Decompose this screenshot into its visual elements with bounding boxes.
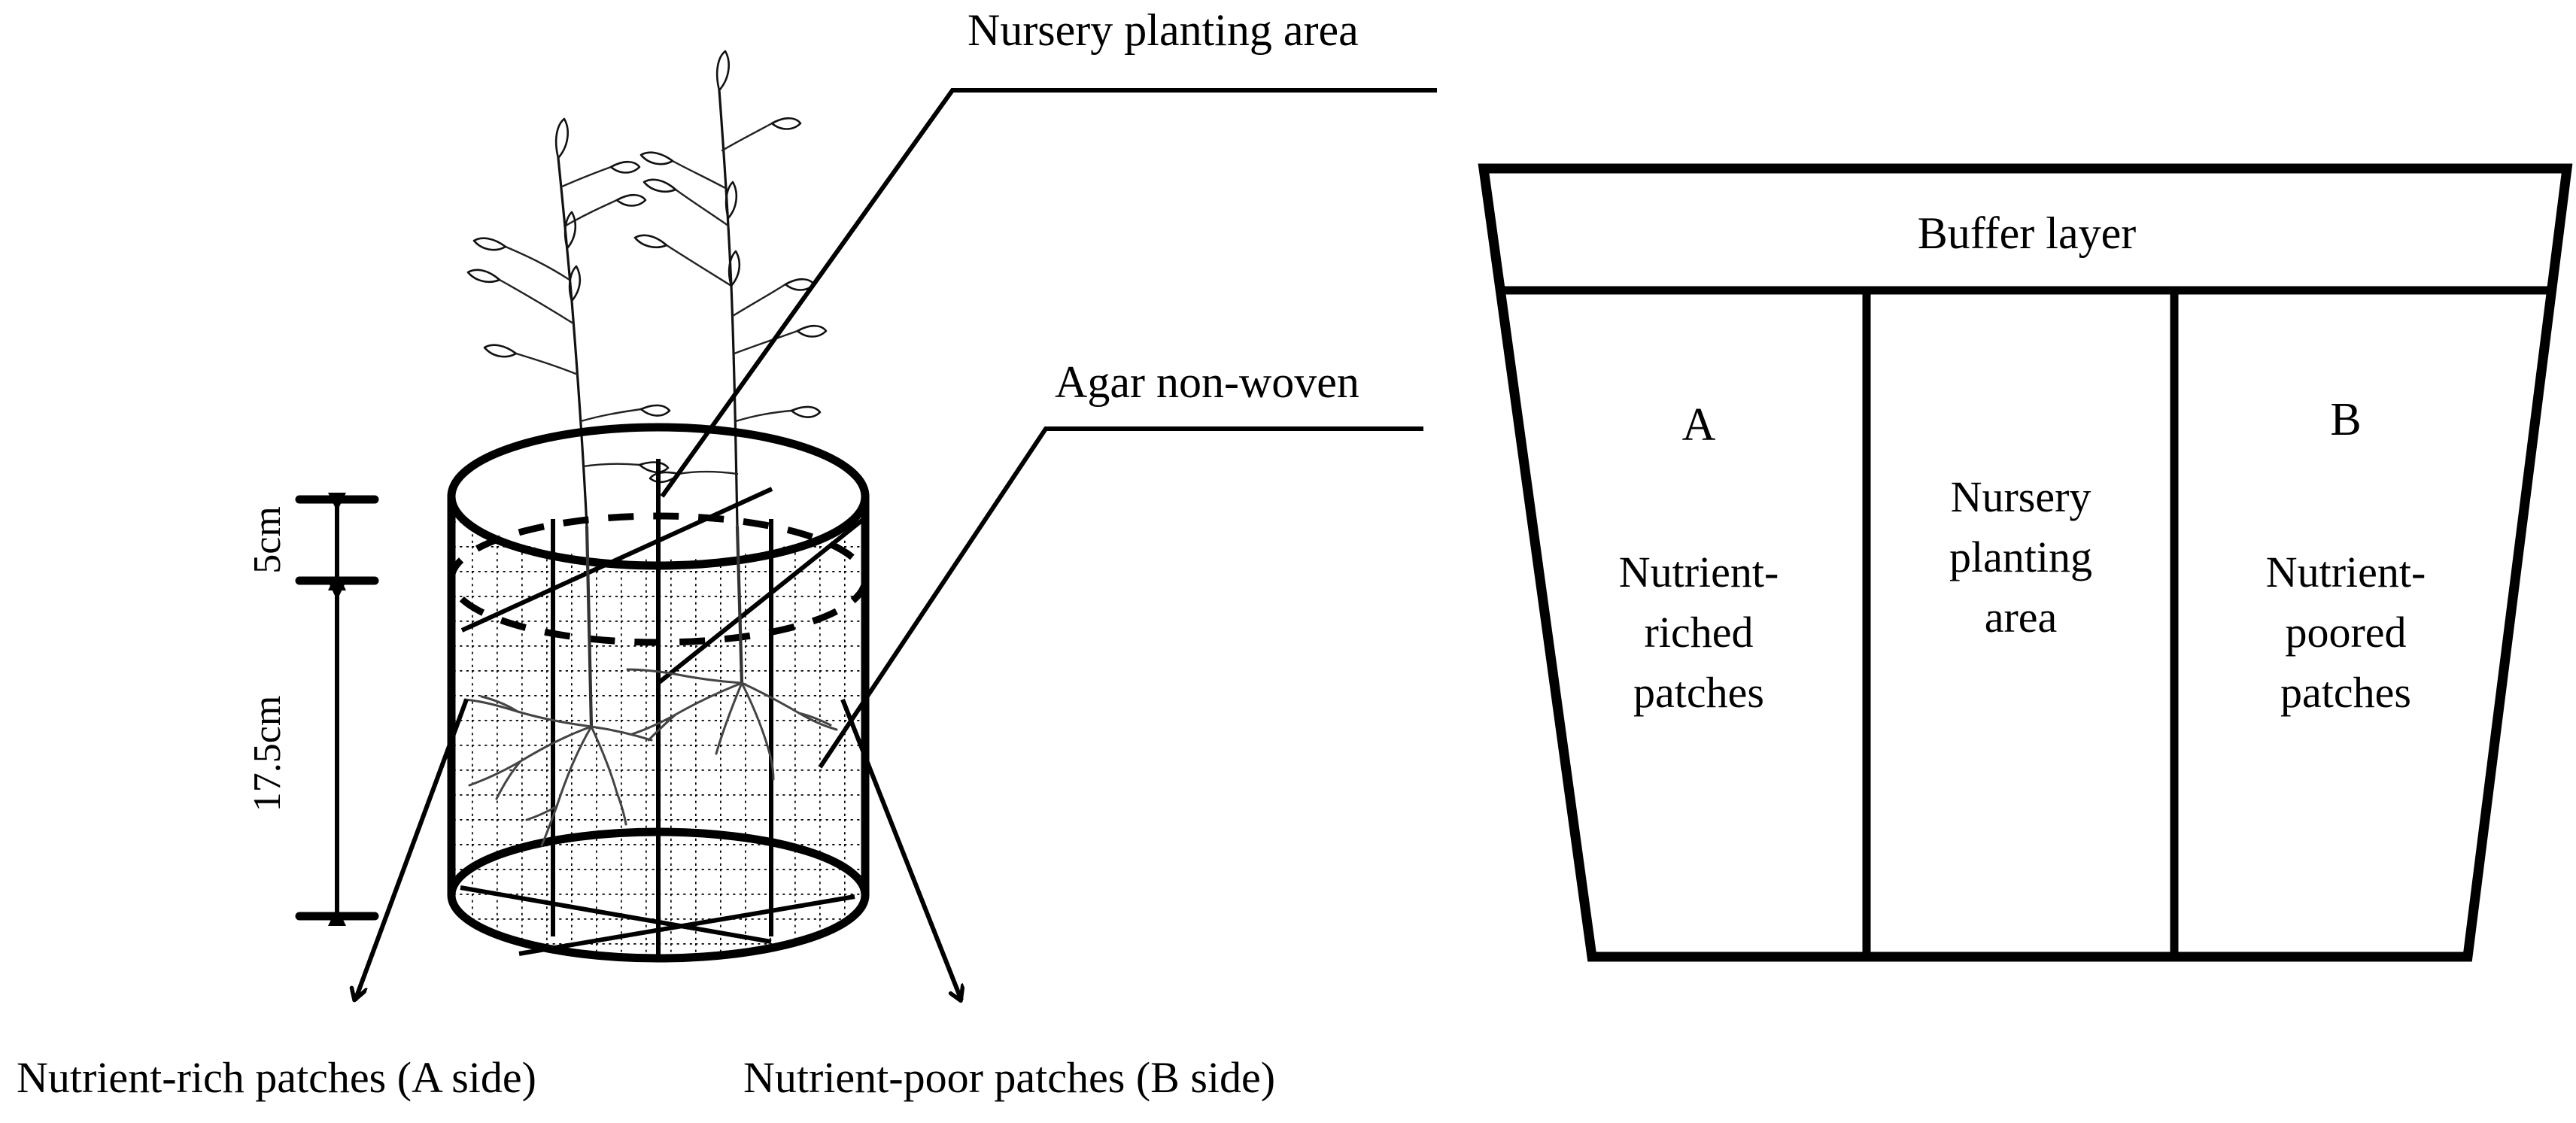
column-a-line-2: riched (1645, 608, 1754, 657)
figure-root: 5cm 17.5cm Nursery planting area Agar no… (0, 0, 2576, 1123)
column-nursery-planting-area: Nursery planting area (1949, 472, 2092, 642)
column-a-line-1: Nutrient- (1619, 548, 1779, 596)
column-a-line-3: patches (1633, 668, 1764, 717)
buffer-layer-label: Buffer layer (1918, 208, 2136, 258)
callout-label-agar-non-woven: Agar non-woven (1055, 357, 1359, 407)
column-letter-a: A (1682, 399, 1716, 451)
column-nursery-line-2: planting (1949, 533, 2092, 581)
dimension-label-upper: 5cm (246, 506, 289, 574)
column-b-line-3: patches (2280, 668, 2411, 717)
callout-label-nursery-planting-area: Nursery planting area (968, 5, 1359, 55)
dimension-5cm: 5cm (246, 499, 375, 581)
plant-seedling-left (468, 119, 670, 527)
column-nursery-line-1: Nursery (1951, 472, 2091, 521)
callout-nursery-planting-area: Nursery planting area (662, 5, 1437, 496)
column-nursery-line-3: area (1985, 593, 2058, 642)
pot-cylinder (444, 427, 880, 978)
callout-agar-non-woven: Agar non-woven (820, 357, 1423, 767)
plant-seedling-right (635, 51, 826, 527)
column-b-line-2: poored (2285, 608, 2406, 657)
diagram-canvas: 5cm 17.5cm Nursery planting area Agar no… (0, 0, 2576, 1123)
caption-nutrient-rich-a-side: Nutrient-rich patches (A side) (17, 1053, 536, 1102)
column-b-line-1: Nutrient- (2266, 548, 2426, 596)
dimension-17-5cm: 17.5cm (246, 594, 375, 916)
column-nutrient-riched-patches: A Nutrient- riched patches (1619, 399, 1779, 717)
caption-nutrient-poor-b-side: Nutrient-poor patches (B side) (743, 1053, 1275, 1102)
dimension-label-lower: 17.5cm (246, 696, 289, 812)
right-panel-cross-section: Buffer layer A Nutrient- riched patches … (1484, 168, 2567, 957)
left-panel-pot-view: 5cm 17.5cm Nursery planting area Agar no… (17, 5, 1437, 1102)
column-nutrient-poored-patches: B Nutrient- poored patches (2266, 394, 2426, 717)
column-letter-b: B (2330, 394, 2361, 445)
